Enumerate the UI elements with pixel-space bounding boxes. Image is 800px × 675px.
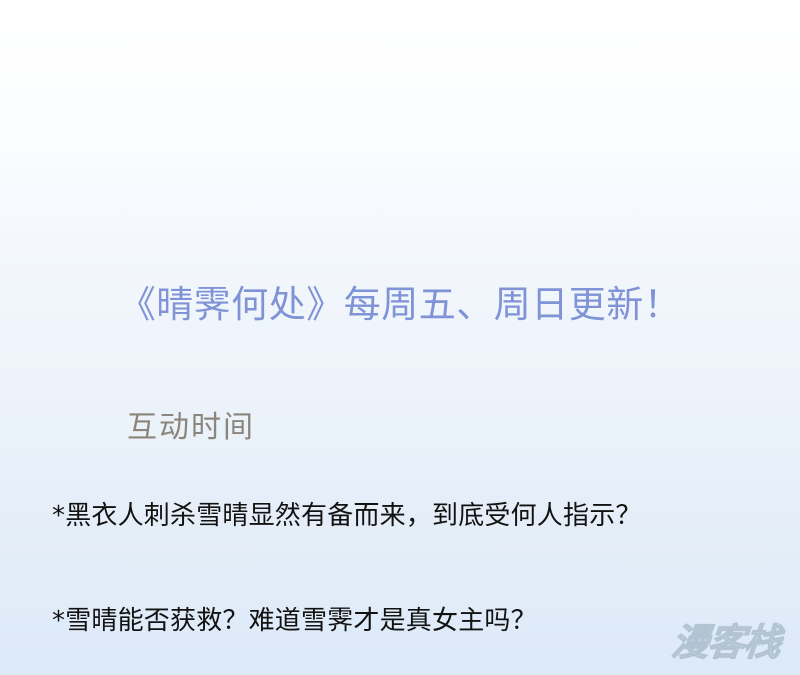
question-line-2: *雪晴能否获救？难道雪霁才是真女主吗？ (52, 608, 537, 634)
question-line-1: *黑衣人刺杀雪晴显然有备而来，到底受何人指示？ (52, 503, 642, 529)
site-watermark: 漫客栈 (662, 614, 790, 670)
page-title: 《晴霁何处》每周五、周日更新！ (0, 286, 800, 323)
comic-footer-page: 《晴霁何处》每周五、周日更新！ 互动时间 *黑衣人刺杀雪晴显然有备而来，到底受何… (0, 0, 800, 675)
section-heading-interaction-time: 互动时间 (127, 413, 255, 443)
watermark-logo-text: 漫客栈 (670, 624, 782, 661)
